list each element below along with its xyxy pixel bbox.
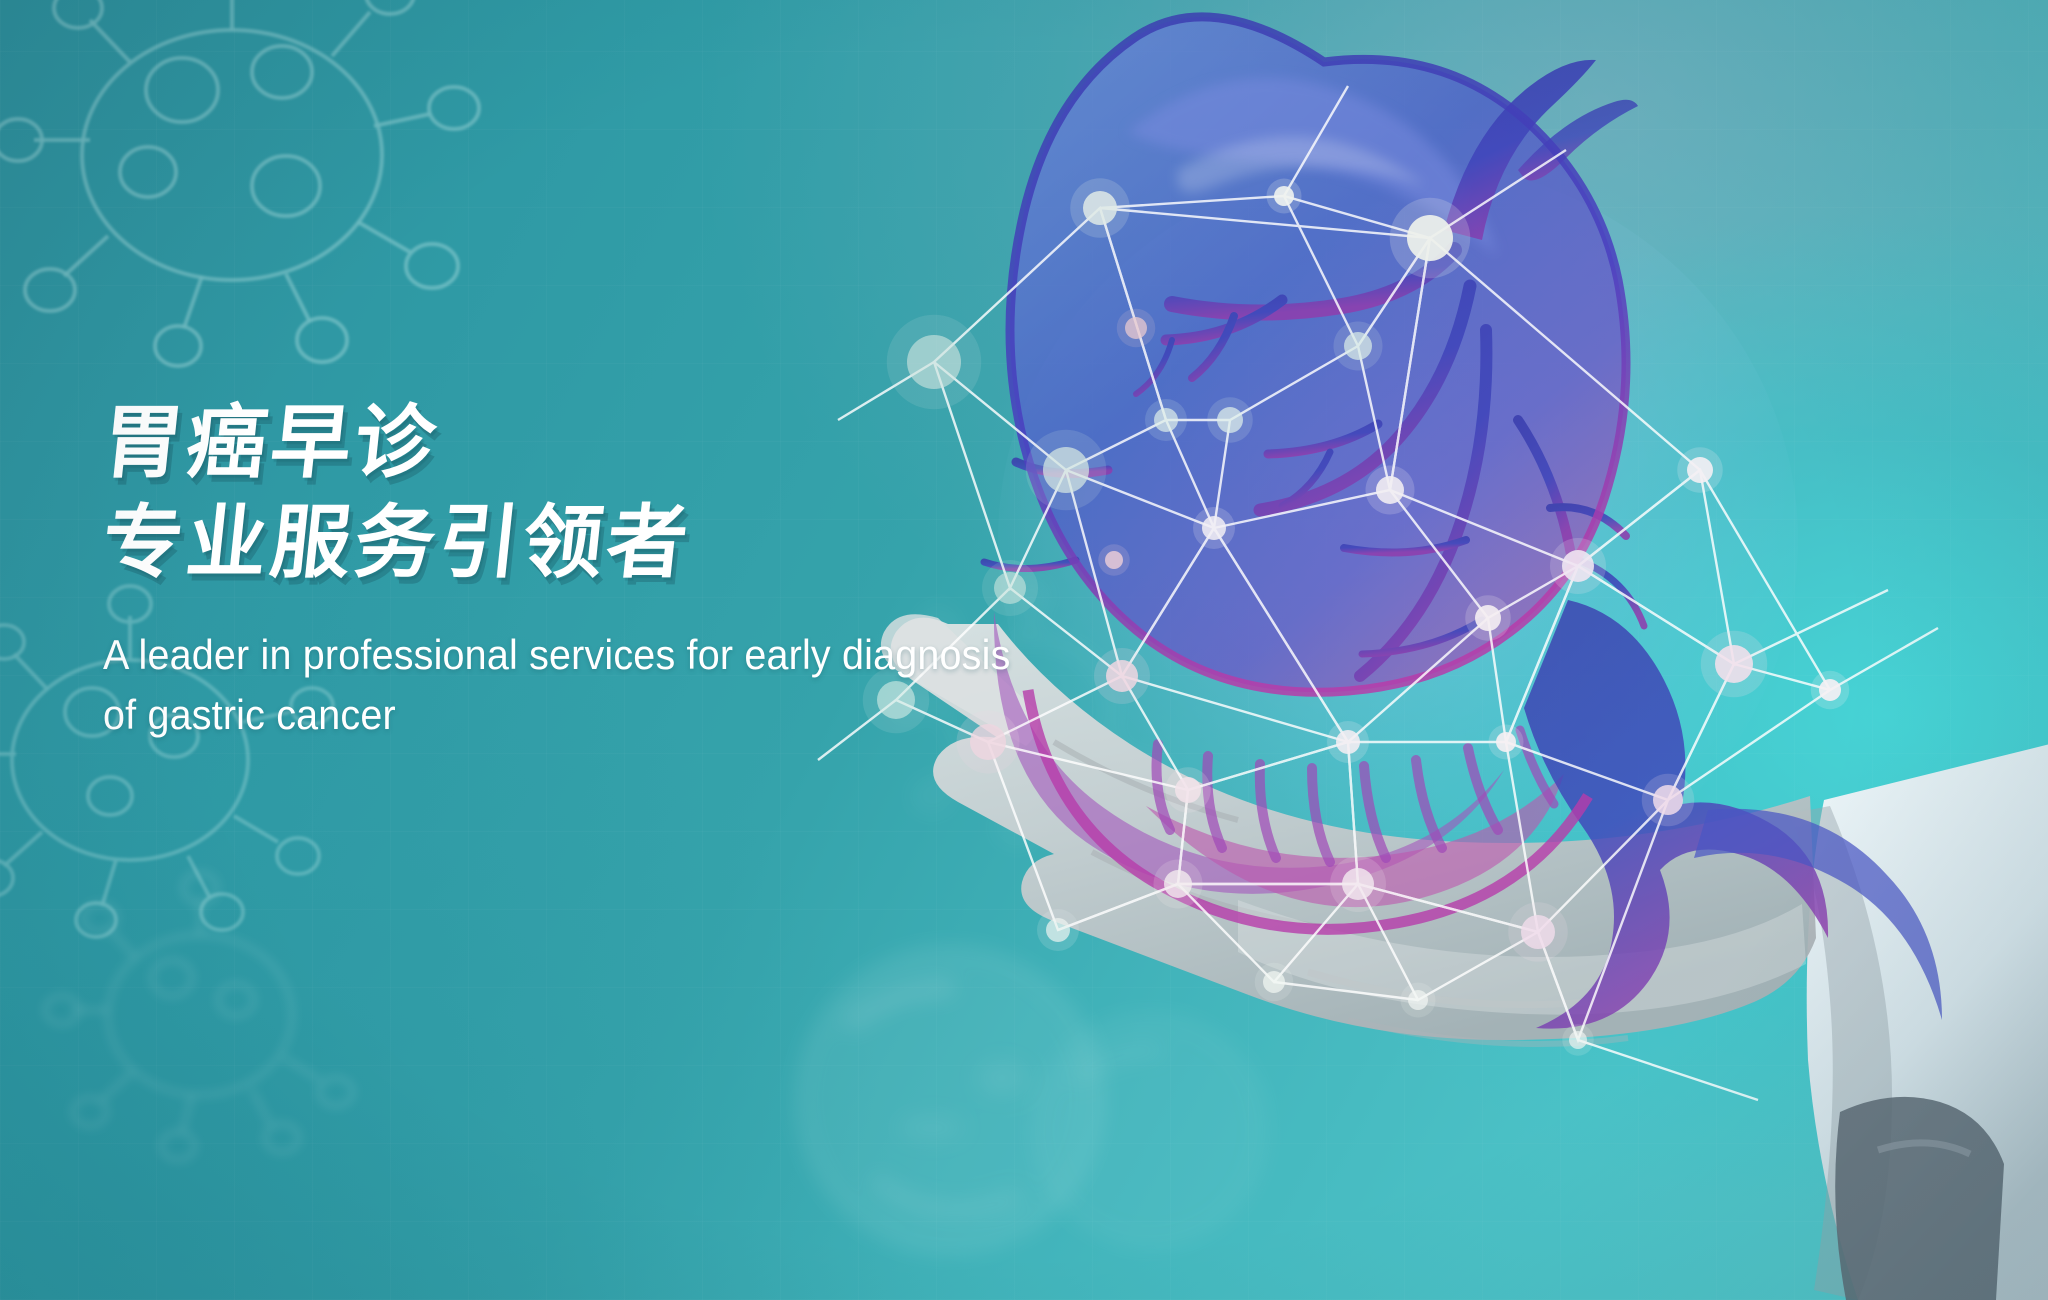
network-node bbox=[1202, 516, 1226, 540]
network-node bbox=[1496, 732, 1516, 752]
network-node bbox=[907, 335, 961, 389]
network-node bbox=[1263, 971, 1285, 993]
network-node bbox=[1408, 990, 1428, 1010]
hero-copy-block: 胃癌早诊 专业服务引领者 A leader in professional se… bbox=[103, 398, 1163, 744]
network-node bbox=[1125, 317, 1147, 339]
network-node bbox=[1217, 407, 1243, 433]
network-node bbox=[1083, 191, 1117, 225]
network-node bbox=[1653, 785, 1683, 815]
headline-line-2: 专业服务引领者 bbox=[98, 498, 1167, 588]
hero-banner: 胃癌早诊 专业服务引领者 A leader in professional se… bbox=[0, 0, 2048, 1300]
network-node bbox=[1344, 332, 1372, 360]
network-node bbox=[1562, 550, 1594, 582]
network-node bbox=[1046, 918, 1070, 942]
network-node bbox=[1376, 476, 1404, 504]
network-node bbox=[1475, 605, 1501, 631]
network-node bbox=[1175, 777, 1201, 803]
headline-line-1: 胃癌早诊 bbox=[98, 398, 1167, 488]
network-node bbox=[1342, 868, 1374, 900]
network-node bbox=[1687, 457, 1713, 483]
network-node bbox=[1715, 645, 1753, 683]
virus-particle-left-lower-icon bbox=[40, 850, 380, 1180]
virus-particle-top-left-icon bbox=[0, 0, 490, 400]
network-node bbox=[1819, 679, 1841, 701]
subtitle-text: A leader in professional services for ea… bbox=[103, 625, 1043, 744]
sleeve-inner-dark bbox=[1835, 1097, 2004, 1300]
network-node bbox=[1164, 870, 1192, 898]
network-node bbox=[1569, 1031, 1587, 1049]
network-node bbox=[1407, 215, 1453, 261]
network-node bbox=[1336, 730, 1360, 754]
network-node bbox=[1521, 915, 1555, 949]
network-node bbox=[1274, 186, 1294, 206]
